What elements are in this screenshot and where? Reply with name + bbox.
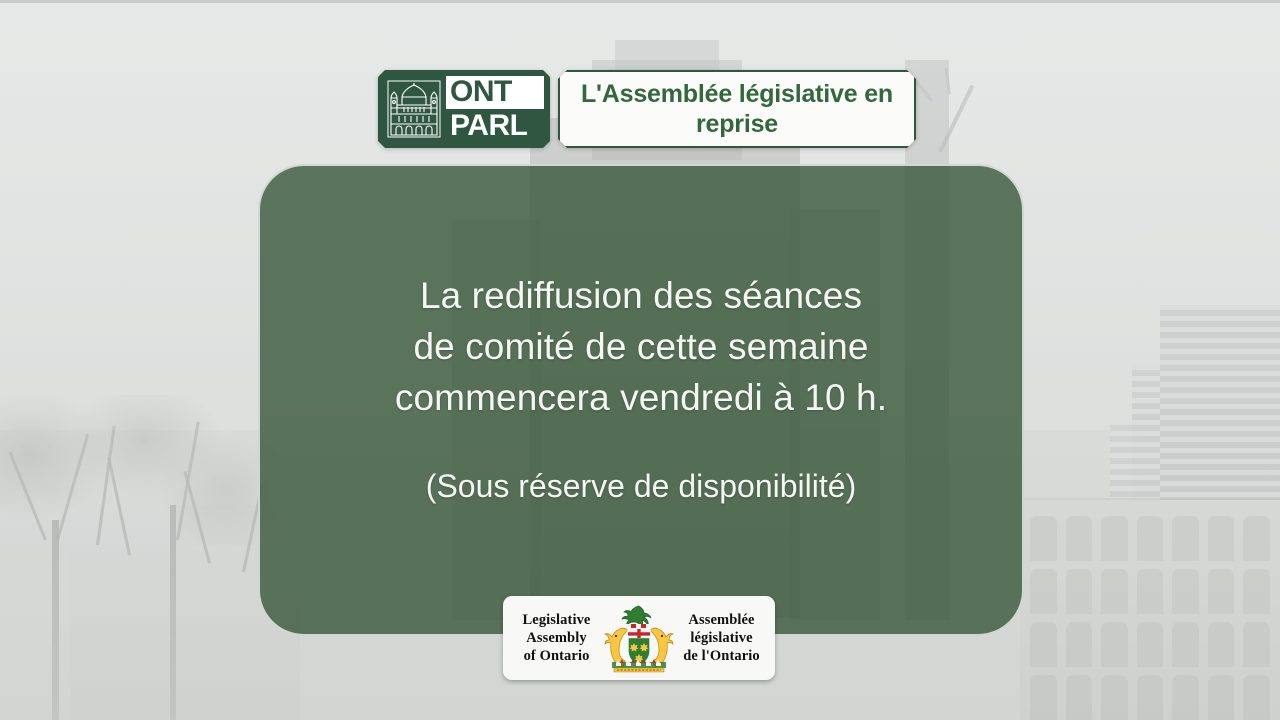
channel-logo[interactable]: ONT PARL <box>378 70 550 148</box>
message-line-1: La rediffusion des séances <box>260 270 1022 321</box>
header-bar: ONT PARL L'Assemblée législative en repr… <box>378 70 916 148</box>
badge-fr-line3: de l'Ontario <box>678 647 765 665</box>
badge-en-line1: Legislative <box>513 611 600 629</box>
ontario-coat-of-arms-icon <box>604 602 674 674</box>
message-text: La rediffusion des séances de comité de … <box>260 270 1022 423</box>
message-line-2: de comité de cette semaine <box>260 321 1022 372</box>
badge-fr-line1: Assemblée <box>678 611 765 629</box>
programme-title: L'Assemblée législative en reprise <box>560 79 914 139</box>
availability-disclaimer: (Sous réserve de disponibilité) <box>260 466 1022 506</box>
logo-line-parl: PARL <box>446 109 544 142</box>
message-panel: La rediffusion des séances de comité de … <box>258 164 1024 636</box>
legislative-assembly-badge: Legislative Assembly of Ontario <box>503 596 775 680</box>
channel-logo-wordmark: ONT PARL <box>446 76 544 142</box>
badge-text-english: Legislative Assembly of Ontario <box>513 611 600 665</box>
badge-en-line3: of Ontario <box>513 647 600 665</box>
ontario-legislative-building-emblem-icon <box>385 76 443 142</box>
badge-en-line2: Assembly <box>513 629 600 647</box>
top-edge-rule <box>0 0 1280 3</box>
badge-text-french: Assemblée législative de l'Ontario <box>678 611 765 665</box>
logo-line-ont: ONT <box>446 76 544 109</box>
programme-title-line1: L'Assemblée législative <box>581 80 857 108</box>
broadcast-slate: ONT PARL L'Assemblée législative en repr… <box>0 0 1280 720</box>
message-line-3: commencera vendredi à 10 h. <box>260 372 1022 423</box>
badge-fr-line2: législative <box>678 629 765 647</box>
programme-title-plaque: L'Assemblée législative en reprise <box>558 70 916 148</box>
